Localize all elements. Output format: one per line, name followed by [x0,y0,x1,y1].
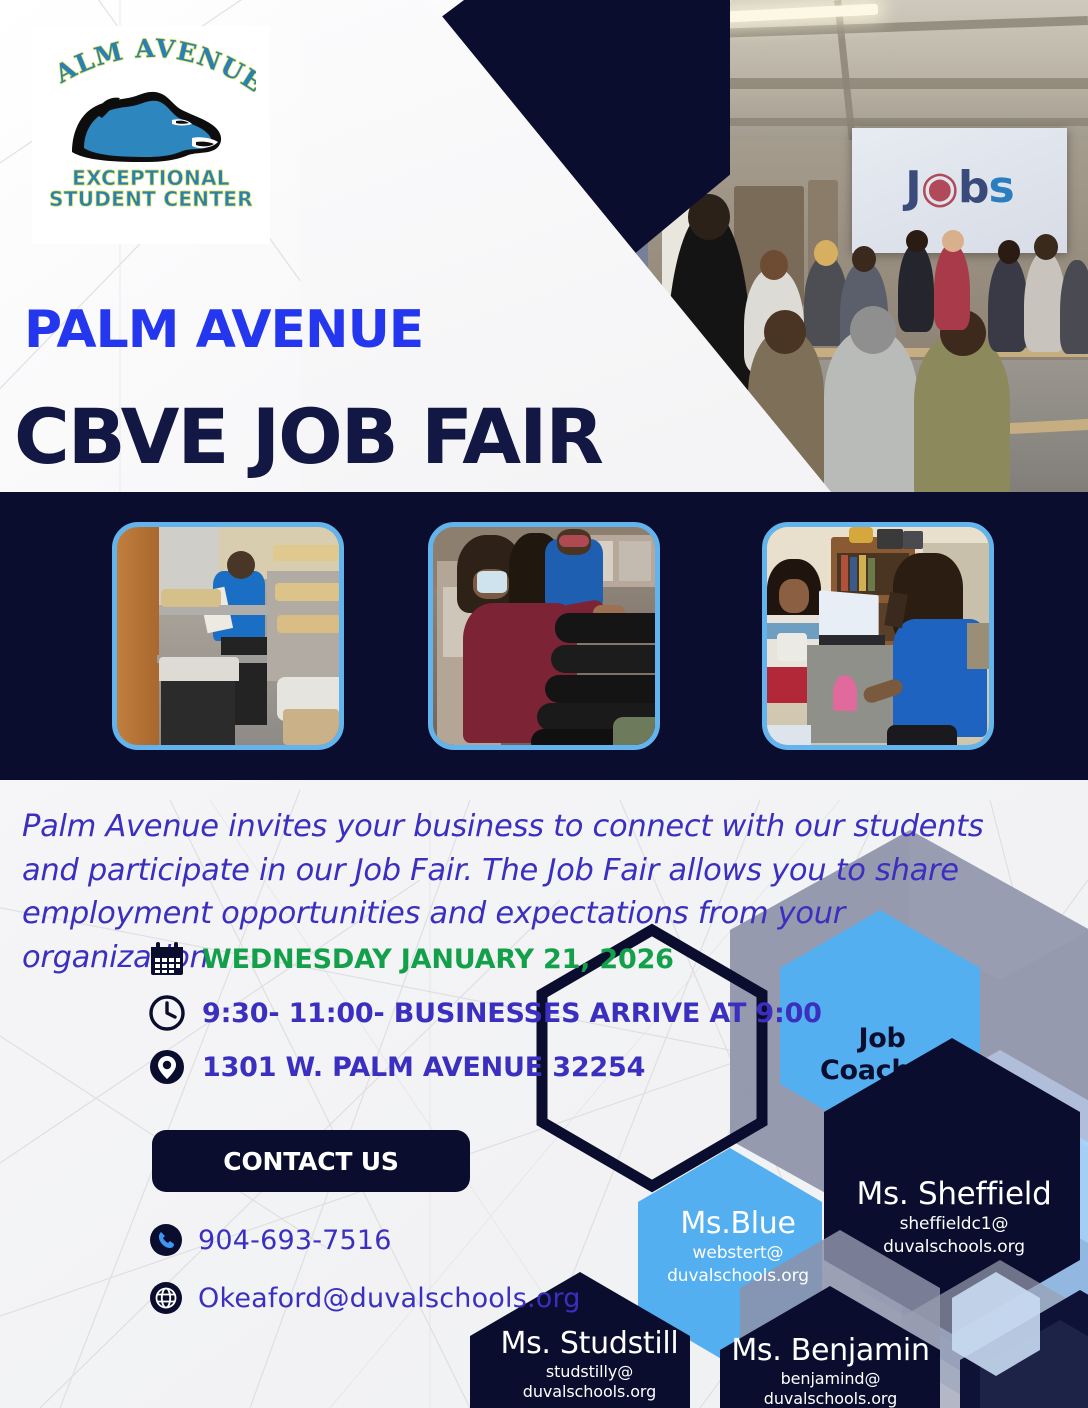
logo-arc-label: PALM AVENUE [46,34,256,92]
event-details-list: WEDNESDAY JANUARY 21, 2026 9:30- 11:00- … [148,940,822,1102]
contact-list: 904-693-7516 Okeaford@duvalschools.org [148,1222,581,1338]
logo-subtitle-line1: EXCEPTIONAL [49,168,253,189]
contact-us-button[interactable]: CONTACT US [152,1130,470,1192]
email-address: Okeaford@duvalschools.org [198,1283,581,1314]
contact-row-email[interactable]: Okeaford@duvalschools.org [148,1280,581,1316]
detail-row-date: WEDNESDAY JANUARY 21, 2026 [148,940,822,978]
page-title: CBVE JOB FAIR [14,392,602,481]
detail-row-time: 9:30- 11:00- BUSINESSES ARRIVE AT 9:00 [148,994,822,1032]
panther-head-icon [66,86,236,166]
detail-time-text: 9:30- 11:00- BUSINESSES ARRIVE AT 9:00 [202,998,822,1029]
calendar-icon [148,940,186,978]
contact-row-phone[interactable]: 904-693-7516 [148,1222,581,1258]
svg-text:PALM AVENUE: PALM AVENUE [46,34,256,92]
detail-row-location: 1301 W. PALM AVENUE 32254 [148,1048,822,1086]
location-pin-icon [148,1048,186,1086]
eyebrow-title: PALM AVENUE [24,300,423,360]
logo-subtitle: EXCEPTIONAL STUDENT CENTER [49,168,253,210]
detail-location-text: 1301 W. PALM AVENUE 32254 [202,1052,645,1083]
logo-subtitle-line2: STUDENT CENTER [49,189,253,210]
school-logo: PALM AVENUE EXCEPTIONAL STUDEN [32,26,270,244]
gallery-photo-bakery [112,522,344,750]
phone-icon [148,1222,184,1258]
flyer-canvas: J◉bs [0,0,1088,1408]
logo-arc-text: PALM AVENUE [46,34,256,92]
gallery-photo-office [762,522,994,750]
gallery-photo-retail [428,522,660,750]
phone-number: 904-693-7516 [198,1225,392,1256]
globe-icon [148,1280,184,1316]
detail-date-text: WEDNESDAY JANUARY 21, 2026 [202,944,674,975]
clock-icon [148,994,186,1032]
